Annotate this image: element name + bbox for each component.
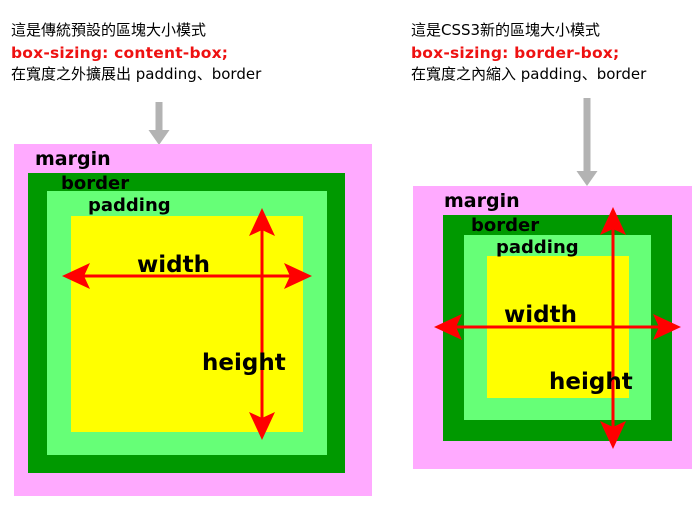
left-height-label: height bbox=[202, 350, 286, 376]
right-measure-arrows bbox=[0, 0, 700, 514]
right-padding-label: padding bbox=[496, 237, 579, 258]
right-margin-label: margin bbox=[444, 190, 520, 212]
right-width-label: width bbox=[504, 302, 577, 328]
right-height-label: height bbox=[549, 369, 633, 395]
right-border-label: border bbox=[471, 215, 539, 236]
left-width-label: width bbox=[137, 252, 210, 278]
left-padding-label: padding bbox=[88, 195, 171, 216]
left-margin-label: margin bbox=[35, 148, 111, 170]
left-border-label: border bbox=[61, 173, 129, 194]
